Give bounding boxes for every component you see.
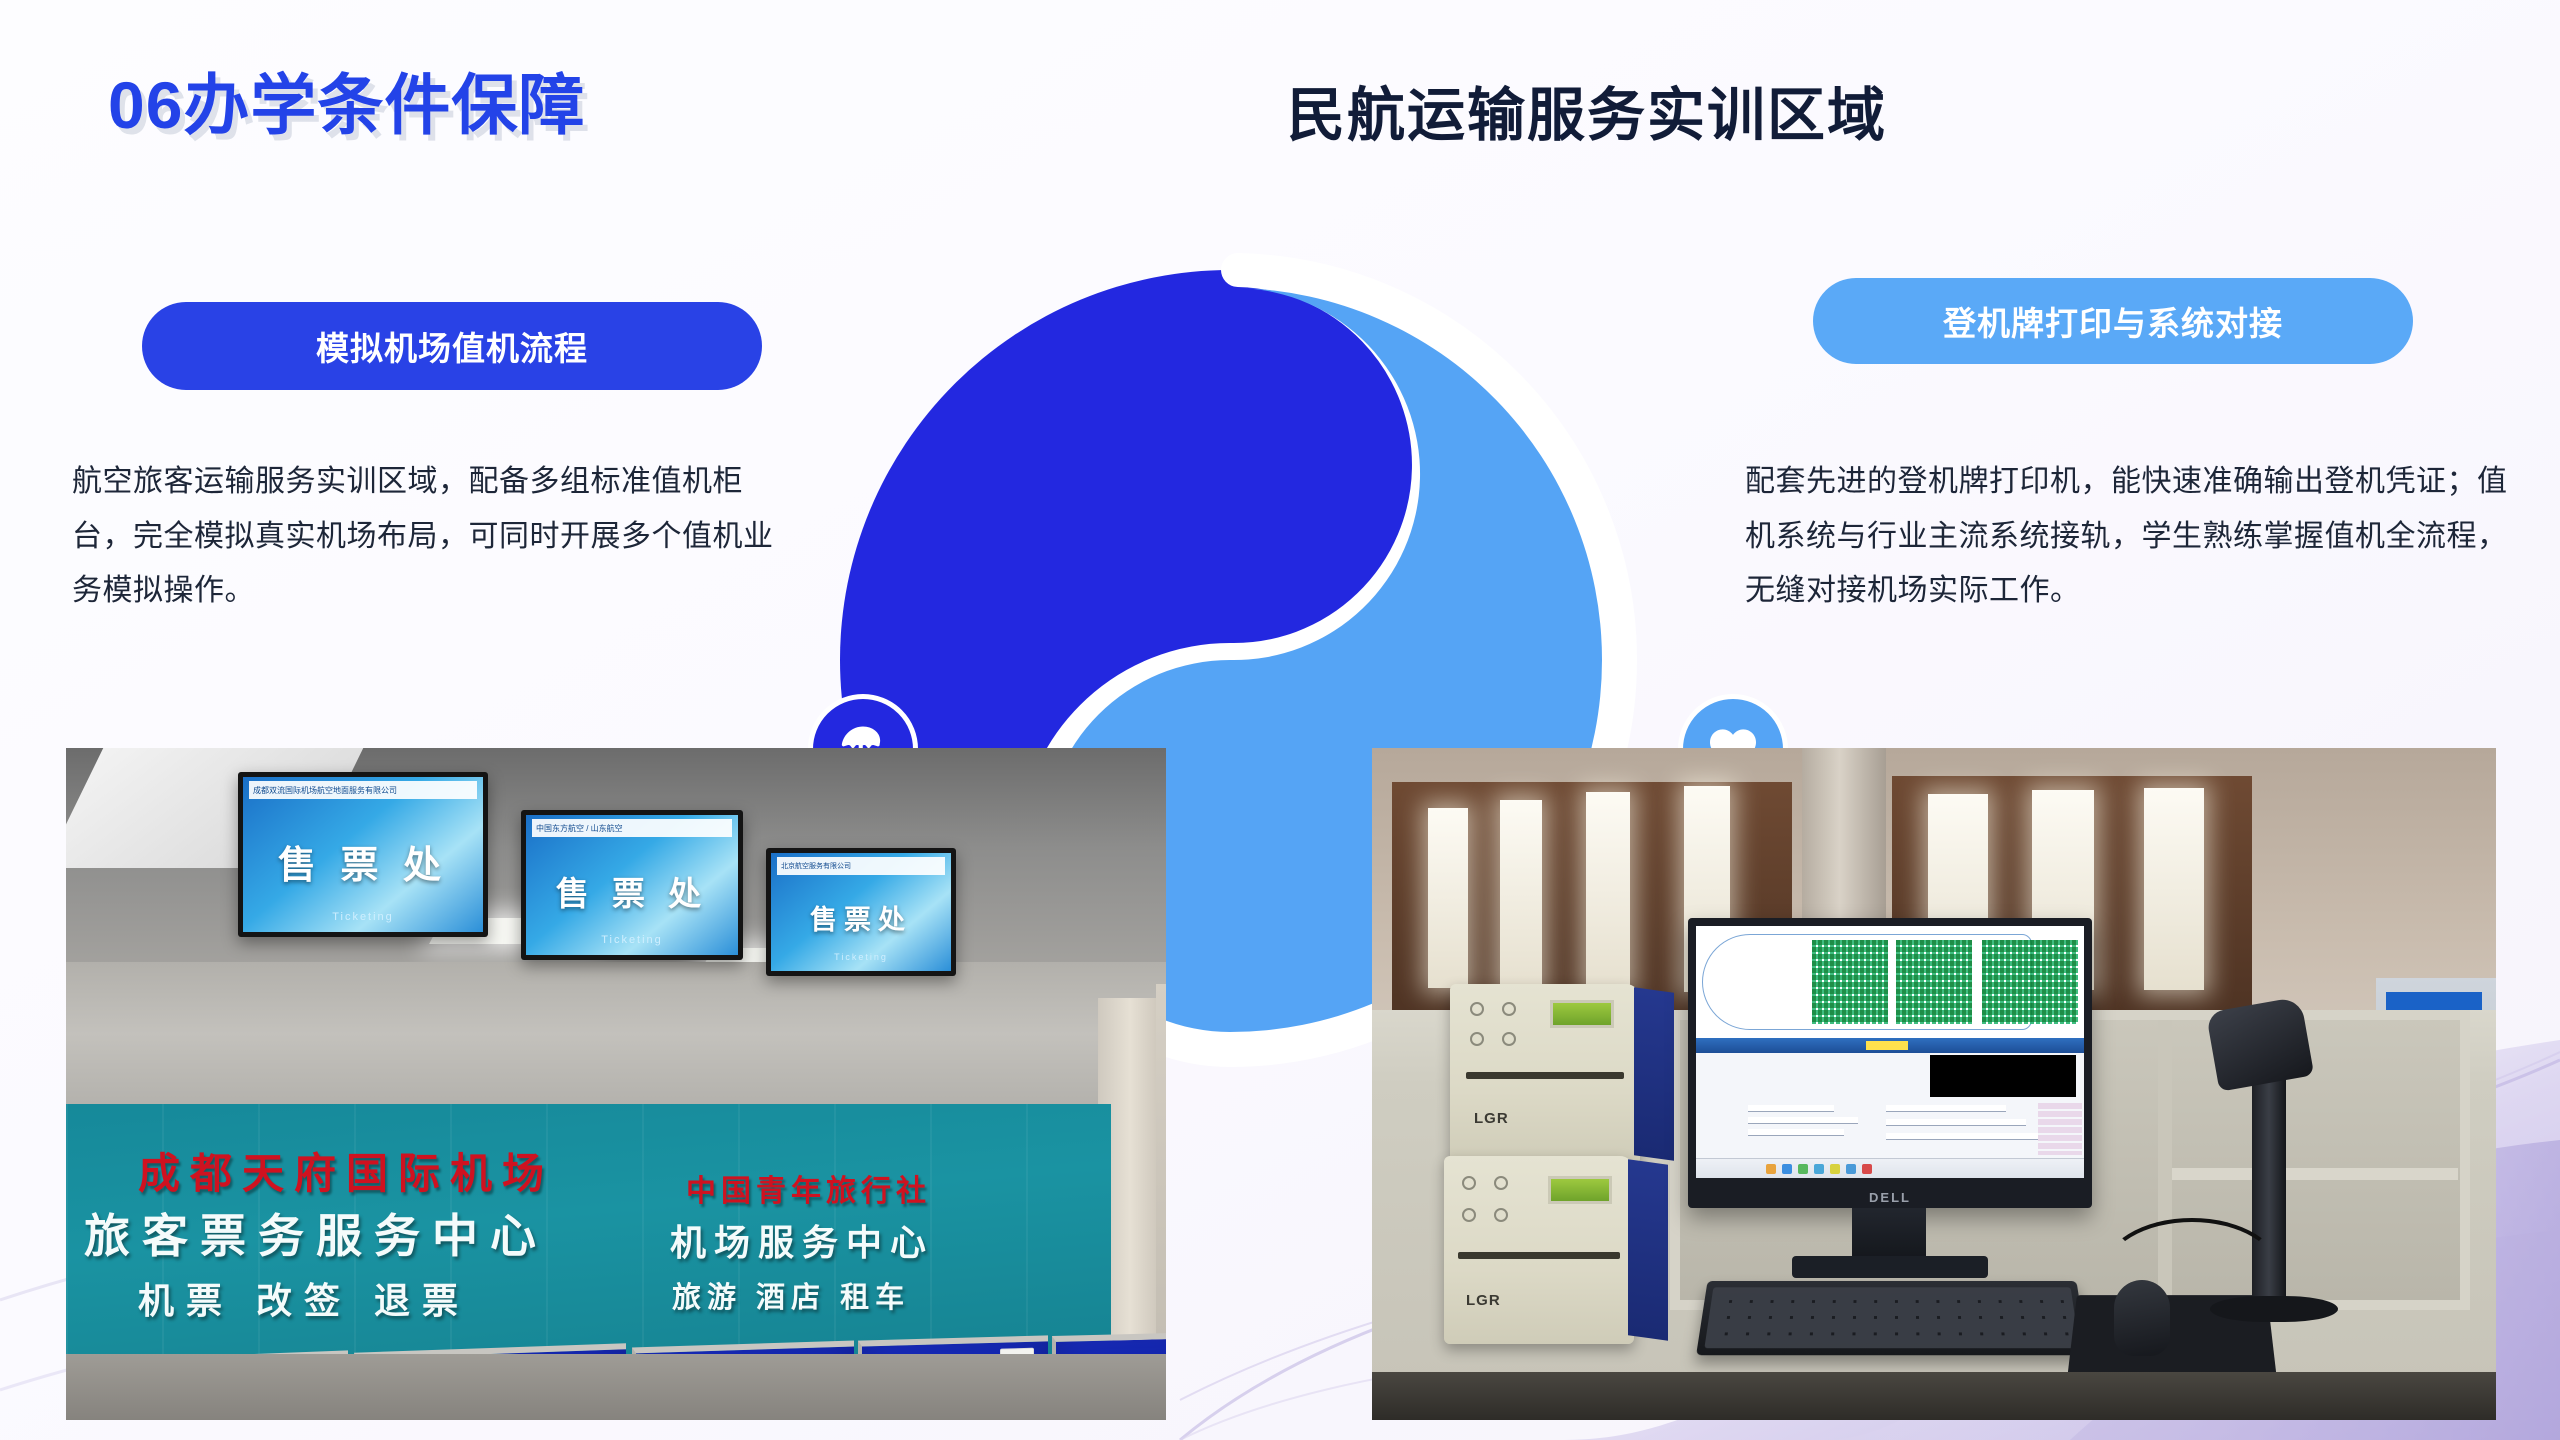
left-description-text: 航空旅客运输服务实训区域，配备多组标准值机柜台，完全模拟真实机场布局，可同时开展…: [72, 455, 792, 619]
right-feature-pill[interactable]: 登机牌打印与系统对接: [1813, 278, 2413, 364]
shelf-board: [2172, 1168, 2458, 1180]
printer-brand-label: LGR: [1466, 1292, 1501, 1309]
overhead-screen-text: 售票处: [810, 898, 912, 937]
printer-paper-slot: [1466, 1072, 1624, 1079]
overhead-screen-logo: 中国东方航空 / 山东航空: [532, 819, 732, 837]
printer-paper-slot: [1458, 1252, 1620, 1259]
monitor-brand-label: DELL: [1688, 1190, 2092, 1205]
form-field[interactable]: [1886, 1105, 2006, 1112]
wall-sign-red: 成都天府国际机场: [138, 1140, 554, 1201]
overhead-screen-text: 售 票 处: [556, 867, 708, 915]
taskbar-icon[interactable]: [1766, 1164, 1776, 1174]
seat-block: [1982, 940, 2078, 1024]
overhead-screen: 成都双流国际机场航空地面服务有限公司 售 票 处 Ticketing: [238, 772, 488, 937]
monitor-stand: [1852, 1208, 1926, 1260]
form-field[interactable]: [1748, 1117, 1858, 1124]
form-field[interactable]: [1886, 1119, 2026, 1126]
monitor: DELL: [1688, 918, 2092, 1208]
section-number-title: 06办学条件保障: [108, 52, 585, 148]
cable: [2102, 1218, 2282, 1328]
taskbar-icon[interactable]: [1782, 1164, 1792, 1174]
form-field[interactable]: [1748, 1105, 1834, 1112]
form-action-buttons[interactable]: [2038, 1103, 2082, 1155]
taskbar-icon[interactable]: [1798, 1164, 1808, 1174]
wall-sign-white: 旅客票务服务中心: [84, 1200, 548, 1266]
airport-ticketing-counter-photo: 成都双流国际机场航空地面服务有限公司 售 票 处 Ticketing 中国东方航…: [66, 748, 1166, 1420]
check-in-workstation-photo: LGR LGR: [1372, 748, 2496, 1420]
overhead-screen-logo: 北京航空服务有限公司: [777, 857, 945, 875]
seat-map-panel: [1696, 926, 2084, 1038]
taskbar-icon[interactable]: [1846, 1164, 1856, 1174]
form-field[interactable]: [1748, 1129, 1844, 1136]
overhead-screen-logo: 成都双流国际机场航空地面服务有限公司: [249, 781, 477, 799]
boarding-pass-printer: LGR: [1444, 1156, 1634, 1344]
wall-band: [66, 962, 1166, 1122]
page-title: 民航运输服务实训区域: [1287, 68, 1887, 152]
printer-button[interactable]: [1502, 1032, 1516, 1046]
wall-sign-red: 中国青年旅行社: [686, 1166, 931, 1210]
overhead-screen-subtext: Ticketing: [243, 911, 483, 923]
seat-block: [1896, 940, 1972, 1024]
printer-brand-label: LGR: [1474, 1110, 1509, 1127]
window: [2144, 788, 2204, 990]
status-highlight: [1866, 1041, 1908, 1050]
overhead-screen: 北京航空服务有限公司 售票处 Ticketing: [766, 848, 956, 976]
printer-side-panel: [1634, 987, 1674, 1161]
app-title-bar: [1696, 1038, 2084, 1053]
printer-button[interactable]: [1462, 1176, 1476, 1190]
wall-sign-white: 旅游 酒店 租车: [672, 1274, 910, 1316]
wall-sign-white: 机票 改签 退票: [138, 1272, 470, 1324]
left-feature-pill-label: 模拟机场值机流程: [316, 322, 588, 370]
info-display-box: [1930, 1055, 2076, 1097]
window: [1500, 800, 1542, 990]
overhead-screen-text: 售 票 处: [278, 834, 448, 889]
wall-sign-white: 机场服务中心: [670, 1214, 934, 1266]
monitor-screen[interactable]: [1696, 926, 2084, 1178]
seat-block: [1812, 940, 1888, 1024]
printer-lcd: [1550, 1000, 1614, 1028]
printer-button[interactable]: [1470, 1002, 1484, 1016]
floor: [66, 1354, 1166, 1420]
right-feature-pill-label: 登机牌打印与系统对接: [1943, 297, 2283, 345]
overhead-screen-subtext: Ticketing: [526, 934, 738, 946]
window: [1428, 808, 1468, 988]
printer-button[interactable]: [1494, 1176, 1508, 1190]
taskbar-icon[interactable]: [1862, 1164, 1872, 1174]
taskbar-icon[interactable]: [1814, 1164, 1824, 1174]
printer-button[interactable]: [1502, 1002, 1516, 1016]
taskbar-icon[interactable]: [1830, 1164, 1840, 1174]
printer-button[interactable]: [1494, 1208, 1508, 1222]
monitor-base: [1792, 1256, 1988, 1278]
boarding-pass-printer: LGR: [1450, 984, 1640, 1164]
passenger-form: [1696, 1053, 2084, 1158]
keyboard[interactable]: [1696, 1281, 2088, 1355]
barcode-scanner[interactable]: [2206, 996, 2314, 1091]
window: [1586, 792, 1630, 990]
overhead-screen-subtext: Ticketing: [771, 952, 951, 962]
printer-button[interactable]: [1462, 1208, 1476, 1222]
printer-button[interactable]: [1470, 1032, 1484, 1046]
overhead-screen: 中国东方航空 / 山东航空 售 票 处 Ticketing: [521, 810, 743, 960]
left-feature-pill[interactable]: 模拟机场值机流程: [142, 302, 762, 390]
printer-side-panel: [1628, 1159, 1668, 1341]
taskbar[interactable]: [1696, 1158, 2084, 1178]
form-field[interactable]: [1886, 1133, 2046, 1140]
printer-lcd: [1548, 1176, 1612, 1204]
floor: [1372, 1372, 2496, 1420]
right-description-text: 配套先进的登机牌打印机，能快速准确输出登机凭证；值机系统与行业主流系统接轨，学生…: [1745, 455, 2515, 619]
